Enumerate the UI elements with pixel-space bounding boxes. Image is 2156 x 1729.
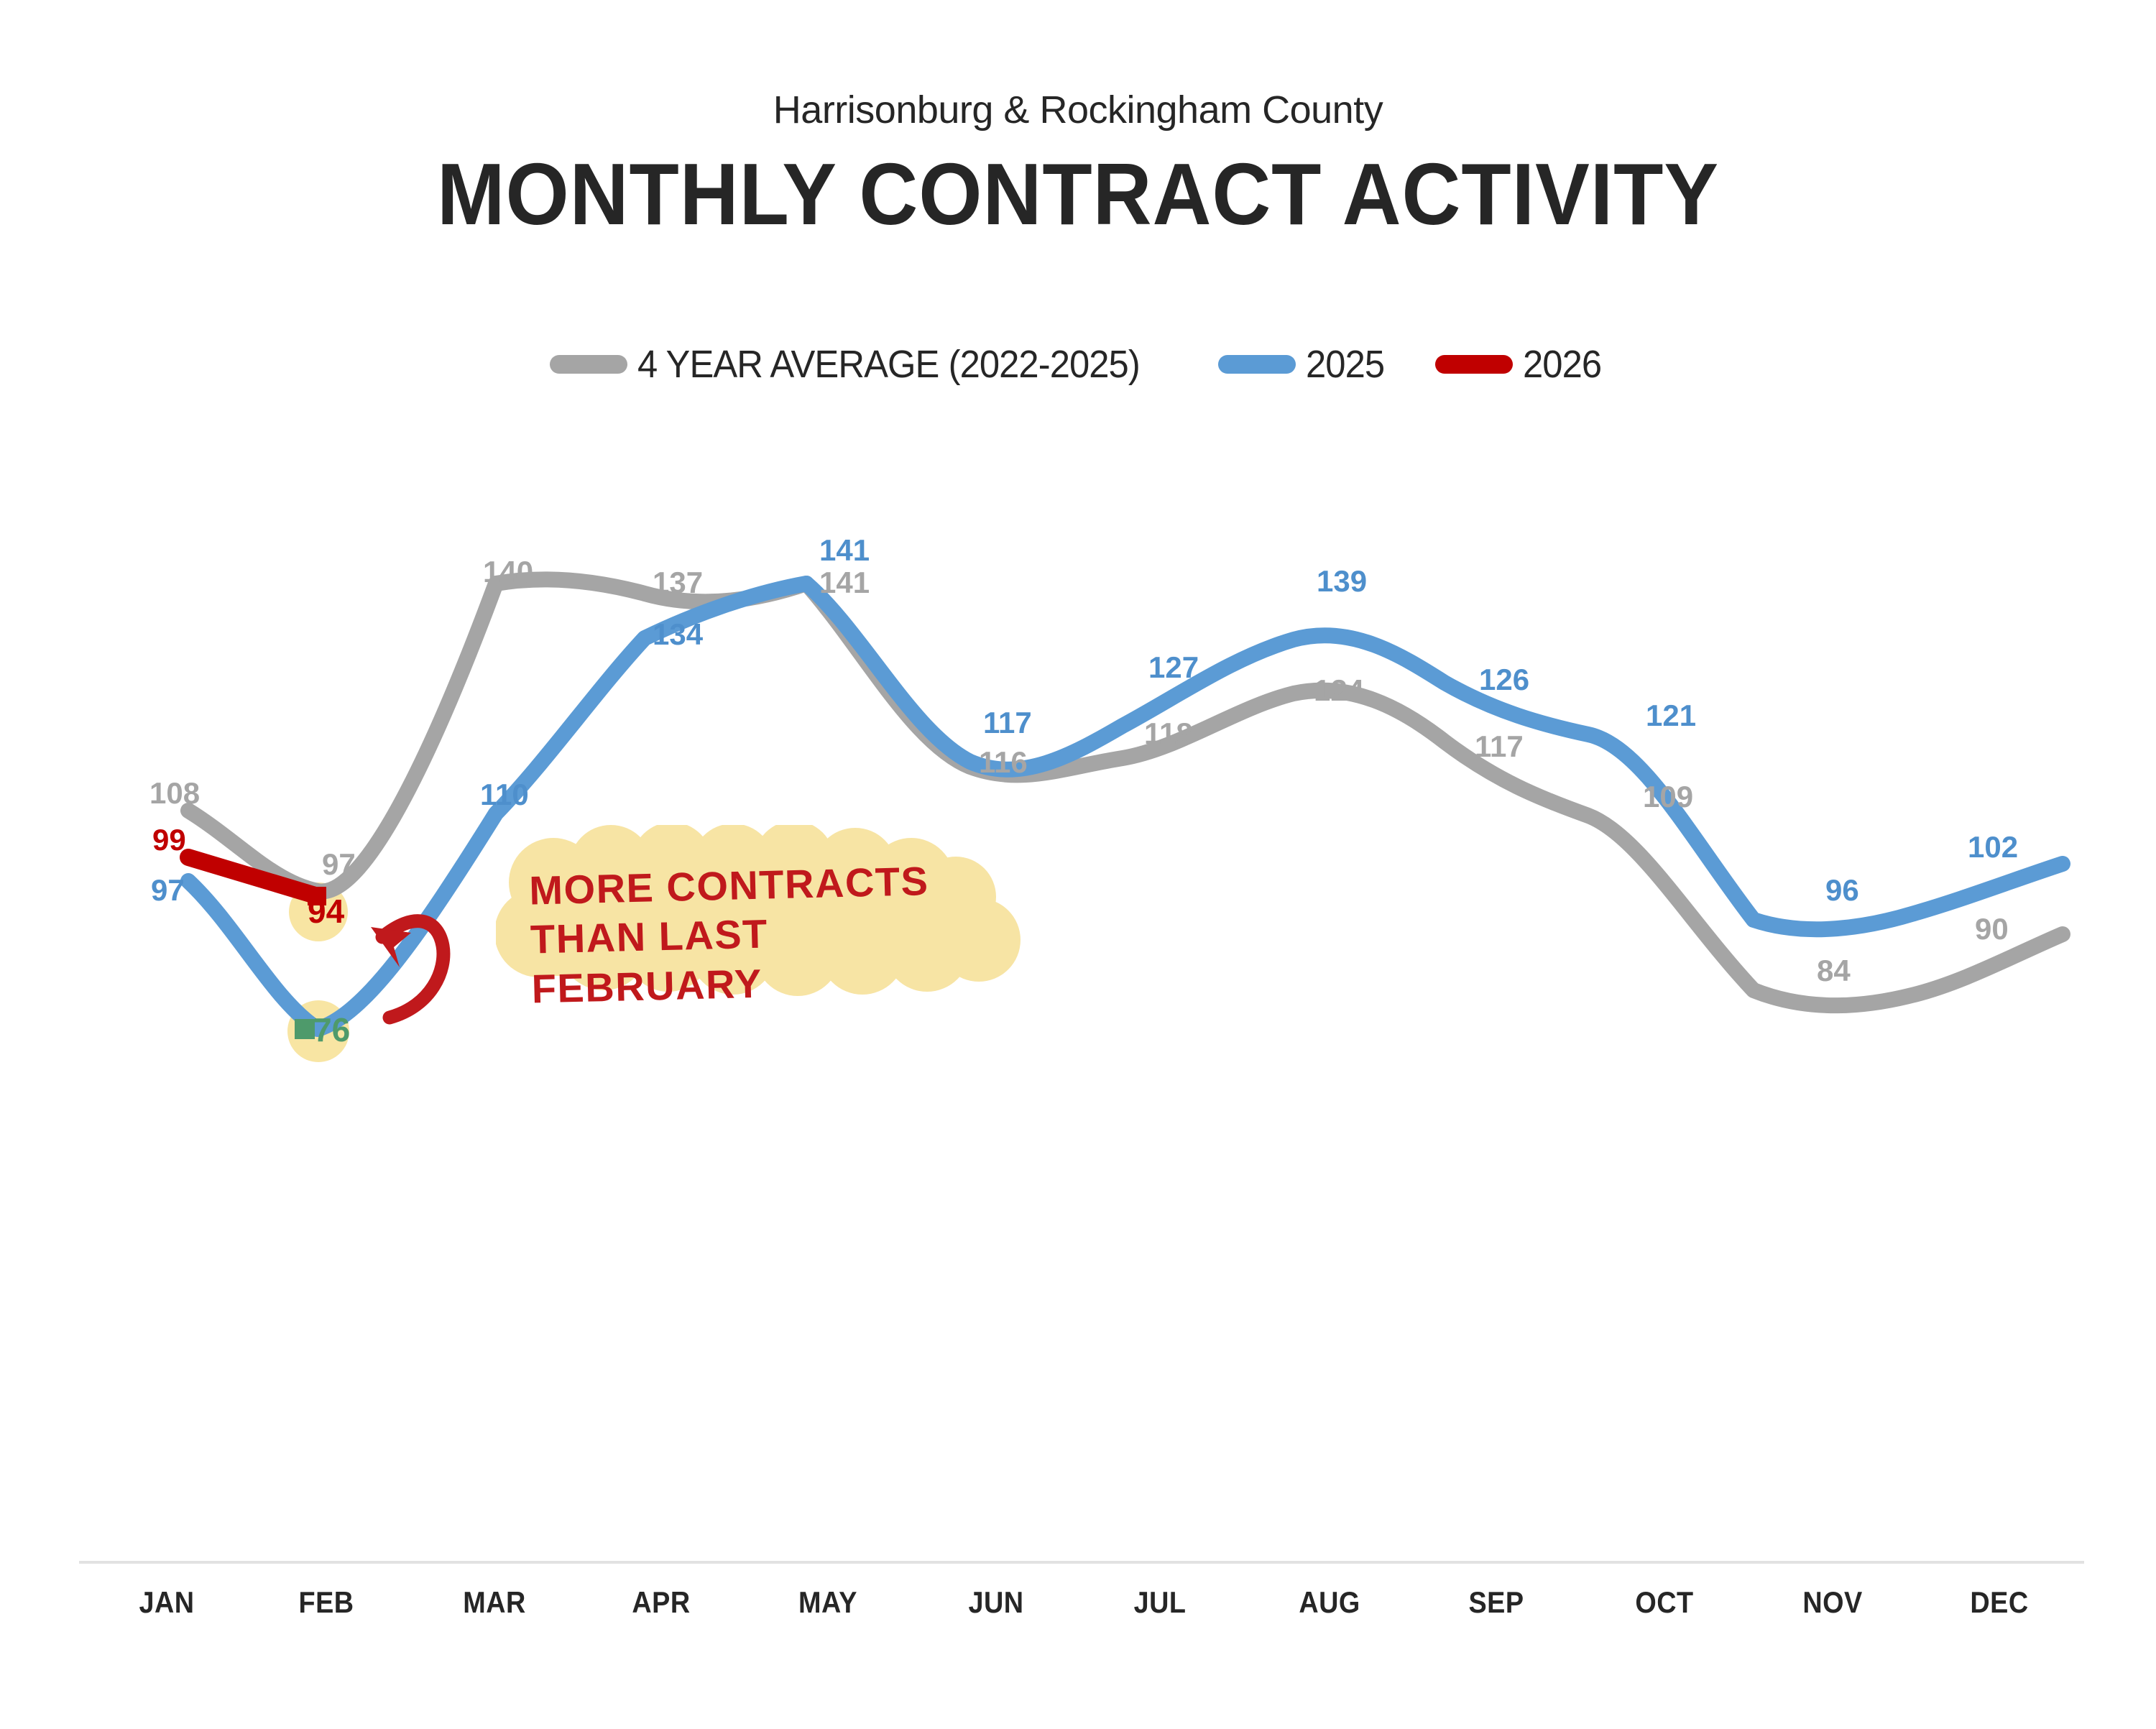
data-label-2025-jan: 97 xyxy=(151,875,185,905)
x-tick-apr: APR xyxy=(603,1585,719,1620)
data-label-2025-jun: 117 xyxy=(983,708,1032,738)
x-tick-nov: NOV xyxy=(1774,1585,1891,1620)
x-tick-jun: JUN xyxy=(938,1585,1054,1620)
x-tick-oct: OCT xyxy=(1606,1585,1723,1620)
data-label-2026-feb: 94 xyxy=(308,895,344,928)
data-label-2025-feb: 76 xyxy=(313,1013,350,1046)
data-label-2025-apr: 134 xyxy=(653,619,703,650)
annotation-text: More contracts than last February xyxy=(529,855,978,1013)
marker-feb-2025 xyxy=(295,1019,315,1039)
data-label-avg-apr: 137 xyxy=(653,568,703,598)
data-label-avg-aug: 124 xyxy=(1314,676,1364,706)
data-label-avg-nov: 84 xyxy=(1817,956,1851,986)
x-tick-may: MAY xyxy=(770,1585,886,1620)
data-label-2025-oct: 121 xyxy=(1646,701,1696,731)
data-label-avg-may: 141 xyxy=(819,568,870,598)
data-label-avg-mar: 140 xyxy=(483,557,533,587)
data-label-avg-feb: 97 xyxy=(322,849,356,880)
x-tick-jul: JUL xyxy=(1102,1585,1218,1620)
x-tick-jan: JAN xyxy=(109,1585,225,1620)
data-label-avg-oct: 109 xyxy=(1643,782,1693,812)
data-label-2025-nov: 96 xyxy=(1825,875,1859,905)
data-label-2025-dec: 102 xyxy=(1968,832,2018,862)
series-line-4-year-average xyxy=(188,579,2063,1005)
annotation-line-2: than last February xyxy=(530,905,977,1014)
x-tick-feb: FEB xyxy=(268,1585,384,1620)
chart-canvas: Harrisonburg & Rockingham County MONTHLY… xyxy=(0,0,2156,1729)
data-label-2025-jul: 127 xyxy=(1148,653,1199,683)
data-label-avg-sep: 117 xyxy=(1475,732,1524,762)
x-axis-labels: JAN FEB MAR APR MAY JUN JUL AUG SEP OCT … xyxy=(0,1585,2156,1636)
x-axis-line xyxy=(79,1561,2084,1564)
x-tick-dec: DEC xyxy=(1941,1585,2058,1620)
data-label-2026-jan: 99 xyxy=(152,825,186,855)
data-label-2025-aug: 139 xyxy=(1317,566,1367,596)
x-tick-aug: AUG xyxy=(1271,1585,1388,1620)
data-label-2025-mar: 110 xyxy=(480,780,529,810)
data-label-2025-may: 141 xyxy=(819,535,870,566)
data-label-2025-sep: 126 xyxy=(1479,665,1529,695)
data-label-avg-jan: 108 xyxy=(149,778,200,808)
data-label-avg-jul: 118 xyxy=(1144,719,1193,749)
x-tick-mar: MAR xyxy=(436,1585,553,1620)
x-tick-sep: SEP xyxy=(1438,1585,1554,1620)
data-label-avg-dec: 90 xyxy=(1975,914,2009,944)
annotation-callout: More contracts than last February xyxy=(496,826,999,1056)
data-label-avg-jun: 116 xyxy=(979,747,1028,778)
